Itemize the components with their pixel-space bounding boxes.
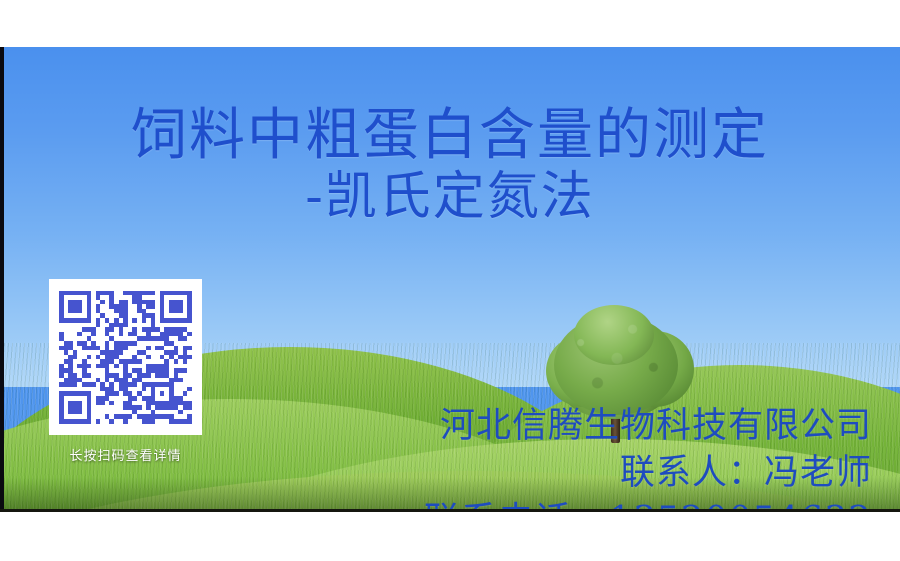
- qr-code-block[interactable]: 长按扫码查看详情: [49, 279, 202, 464]
- company-info-block: 河北信腾生物科技有限公司 联系人：冯老师 联系电话：13520054632: [424, 407, 872, 512]
- qr-code-card[interactable]: [49, 279, 202, 435]
- company-name: 河北信腾生物科技有限公司: [424, 407, 872, 446]
- video-page: 饲料中粗蛋白含量的测定 -凯氏定氮法 长按扫码查看详情 河北信腾生物科技有限公司…: [0, 0, 900, 561]
- qr-code-image[interactable]: [59, 291, 192, 424]
- tree-foliage-texture: [552, 309, 682, 421]
- video-bottom-border: [0, 509, 900, 512]
- top-white-strip: [0, 0, 900, 47]
- video-left-border: [0, 47, 4, 512]
- contact-person: 联系人：冯老师: [424, 454, 872, 493]
- qr-caption-label: 长按扫码查看详情: [49, 445, 202, 464]
- video-stage[interactable]: 饲料中粗蛋白含量的测定 -凯氏定氮法 长按扫码查看详情 河北信腾生物科技有限公司…: [0, 47, 900, 512]
- slide-title: 饲料中粗蛋白含量的测定 -凯氏定氮法: [0, 107, 900, 224]
- title-line-secondary: -凯氏定氮法: [0, 170, 900, 225]
- bottom-white-strip: [0, 512, 900, 561]
- title-line-primary: 饲料中粗蛋白含量的测定: [0, 107, 900, 166]
